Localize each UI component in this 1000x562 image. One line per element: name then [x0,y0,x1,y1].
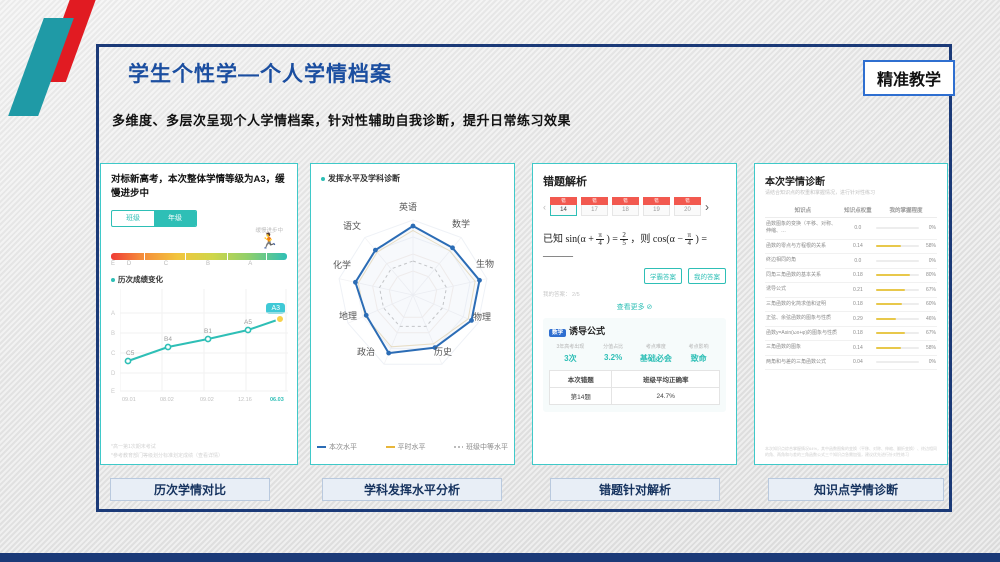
score-line-chart: A3 A B C D E [111,289,287,407]
grade-label-c: C [164,261,168,267]
question-chip-flag: 错 [674,197,701,205]
table-header-row: 知识点 知识点权重 我的掌握程度 [765,203,937,218]
table-row: 函数y=Asin(ωx+φ)的图象与性质0.1867% [765,326,937,341]
cell-mastery: 46% [875,312,937,327]
knowledge-summary-table: 本次错题 班级平均正确率 第14题 24.7% [549,370,720,405]
cell-wrong-question: 第14题 [550,388,612,405]
question-chip-19[interactable]: 错19 [643,197,670,216]
formula-fraction-1: π4 [596,232,604,247]
progress-runner: 缓慢进步中 🏃 [255,226,283,249]
page-title: 学生个性学—个人学情档案 [128,58,392,88]
question-chip-flag: 错 [550,197,577,205]
radar-label-geography: 地理 [339,309,357,322]
my-answer-row: 我的答案： 2/5 [543,290,726,298]
card1-heading: 对标新高考，本次整体学情等级为A3，缓慢进步中 [111,173,287,201]
y-label-d: D [111,371,115,377]
cell-weight: 0.18 [841,297,875,312]
x-label-4: 12.16 [238,397,252,403]
question-chip-number: 18 [612,205,639,216]
svg-text:A5: A5 [244,319,252,326]
card3-title: 错题解析 [543,173,726,189]
answer-buttons: 学霸答案 我的答案 [543,268,726,284]
radar-label-physics: 物理 [473,310,491,323]
cards-container: 对标新高考，本次整体学情等级为A3，缓慢进步中 班级 年级 缓慢进步中 🏃 E … [100,163,948,468]
card1-footnote-2: *参考教育部门等级划分标准划定成绩（查看详情） [111,452,223,459]
card1-legend: 历次成绩变化 [111,274,287,285]
question-chip-number: 20 [674,205,701,216]
cell-name: 函数y=Asin(ωx+φ)的图象与性质 [765,326,841,341]
x-label-2: 08.02 [160,397,174,403]
radar-label-biology: 生物 [476,257,494,270]
my-answer-label: 我的答案： [543,292,571,298]
stat-impact: 考点影响 致命 [677,343,720,364]
x-label-1: 09.01 [122,397,136,403]
view-more-label: 查看更多 [617,304,645,311]
stat-score-share: 分值占比 3.2% [592,343,635,364]
radar-label-history: 历史 [434,345,452,358]
formula-eq1: ) = [606,234,617,245]
cell-weight: 0.18 [841,326,875,341]
knowledge-point-panel: 数学诱导公式 3年高考出现 3次 分值占比 3.2% 考点难度 基础必会 [543,318,726,412]
legend-class-average: 班级中等水平 [454,442,508,452]
view-more-link[interactable]: 查看更多 ⊘ [543,302,726,312]
card2-heading-row: 发挥水平及学科诊断 [321,173,504,184]
card4-subtitle: 请结合知识点的权重和掌握情况，进行针对性练习 [765,190,937,198]
cell-mastery: 0% [875,355,937,370]
svg-text:B1: B1 [204,328,212,335]
runner-icon: 🏃 [255,234,283,249]
line-chart-y-axis: A B C D E [111,289,120,393]
knowledge-stats: 3年高考出现 3次 分值占比 3.2% 考点难度 基础必会 考点影响 致命 [549,343,720,364]
cell-weight: 0.0 [841,217,875,239]
question-chip-17[interactable]: 错17 [581,197,608,216]
footer-bar [0,553,1000,562]
bottom-label-wrong-analysis: 错题针对解析 [550,478,720,501]
cell-name: 三角函数的图象 [765,341,841,356]
question-formula: 已知 sin(α + π4 ) = 25 ，则 cos(α − π4 ) = _… [543,230,726,258]
y-label-c: C [111,351,115,357]
radar-label-chinese: 语文 [343,219,361,232]
page-subtitle: 多维度、多层次呈现个人学情档案，针对性辅助自我诊断，提升日常练习效果 [112,110,571,129]
grade-gradient-bar [111,253,287,260]
table-row: 三角函数的化简求值和证明0.1860% [765,297,937,312]
table-row: 三角函数的图象0.1458% [765,341,937,356]
question-selector[interactable]: ‹ 错14 错17 错18 错19 错20 › [543,197,726,216]
x-label-3: 09.02 [200,397,214,403]
card-knowledge-diagnosis: 本次学情诊断 请结合知识点的权重和掌握情况，进行针对性练习 知识点 知识点权重 … [754,163,948,465]
x-label-5: 06.03 [270,397,284,403]
knowledge-title-row: 数学诱导公式 [549,324,720,337]
scope-toggle[interactable]: 班级 年级 [111,210,197,227]
stat-difficulty: 考点难度 基础必会 [635,343,678,364]
cell-name: 两角和与差的三角函数公式 [765,355,841,370]
cell-weight: 0.14 [841,341,875,356]
question-chip-number: 17 [581,205,608,216]
radar-label-english: 英语 [399,200,417,213]
my-answer-button[interactable]: 我的答案 [688,268,726,284]
formula-mid: ，则 [630,234,650,245]
knowledge-title: 诱导公式 [569,326,605,336]
svg-text:B4: B4 [164,336,172,343]
question-chip-20[interactable]: 错20 [674,197,701,216]
subject-tag: 数学 [549,329,566,337]
cell-mastery: 67% [875,283,937,298]
col-wrong-question: 本次错题 [550,371,612,388]
knowledge-diagnosis-table: 知识点 知识点权重 我的掌握程度 函数图象的变换（平移、对称、伸缩、…0.00%… [765,203,937,371]
grade-scale-labels: E D C B A [111,260,287,271]
cell-weight: 0.18 [841,268,875,283]
cell-name: 函数的零点与方程根的关系 [765,239,841,254]
col-class-accuracy: 班级平均正确率 [612,371,720,388]
cell-mastery: 60% [875,297,937,312]
toggle-option-grade[interactable]: 年级 [154,211,196,226]
cell-mastery: 80% [875,268,937,283]
radar-label-chemistry: 化学 [333,258,351,271]
chevron-down-icon: ⊘ [647,304,653,311]
cell-weight: 0.14 [841,239,875,254]
cell-name: 三角函数的化简求值和证明 [765,297,841,312]
formula-expr2: cos(α − [653,234,683,245]
question-chip-number: 14 [550,205,577,216]
radar-legend: 本次水平 平时水平 班级中等水平 [317,442,508,452]
toggle-option-class[interactable]: 班级 [112,211,154,226]
formula-expr1: sin(α + [566,234,594,245]
table-row: 两角和与差的三角函数公式0.040% [765,355,937,370]
cell-weight: 0.21 [841,283,875,298]
card4-footnote: 本次知识点综合掌握情况64%，其中函数图象的变换（平移、对称、伸缩、翻折变换）、… [765,446,937,458]
line-chart-svg: C5 B4 B1 A5 [120,289,288,397]
card4-title: 本次学情诊断 [765,173,937,188]
my-answer-value: 2/5 [572,292,580,298]
legend-usual-level: 平时水平 [386,442,426,452]
card-subject-radar: 发挥水平及学科诊断 [310,163,515,465]
standard-answer-button[interactable]: 学霸答案 [644,268,682,284]
table-row: 第14题 24.7% [550,388,720,405]
question-chip-14[interactable]: 错14 [550,197,577,216]
cell-mastery: 0% [875,254,937,269]
card1-footnote-1: *高一第1次期末考试 [111,443,156,450]
bottom-label-subject-analysis: 学科发挥水平分析 [322,478,502,501]
bottom-labels: 历次学情对比 学科发挥水平分析 错题针对解析 知识点学情诊断 [100,478,948,502]
formula-prefix: 已知 [543,234,563,245]
grade-label-d: D [127,261,131,267]
question-chip-18[interactable]: 错18 [612,197,639,216]
col-weight: 知识点权重 [841,203,875,218]
radar-label-politics: 政治 [357,345,375,358]
y-label-e: E [111,389,115,395]
cell-name: 同角三角函数的基本关系 [765,268,841,283]
formula-fraction-3: π4 [685,232,693,247]
table-header-row: 本次错题 班级平均正确率 [550,371,720,388]
y-label-a: A [111,311,115,317]
table-row: 函数的零点与方程根的关系0.1458% [765,239,937,254]
header-badge: 精准教学 [863,60,955,96]
grade-label-e: E [111,261,115,267]
prev-question-icon[interactable]: ‹ [543,202,546,212]
grade-label-a: A [248,261,252,267]
stat-exam-frequency: 3年高考出现 3次 [549,343,592,364]
formula-fraction-2: 25 [620,232,628,247]
table-row: 正弦、余弦函数的图象与性质0.2946% [765,312,937,327]
question-chip-flag: 错 [643,197,670,205]
y-label-b: B [111,331,115,337]
cell-name: 正弦、余弦函数的图象与性质 [765,312,841,327]
question-chip-number: 19 [643,205,670,216]
cell-name: 终边相同的角 [765,254,841,269]
cell-name: 函数图象的变换（平移、对称、伸缩、… [765,217,841,239]
bottom-label-knowledge-diagnosis: 知识点学情诊断 [768,478,944,501]
radar-chart: 英语 数学 生物 物理 历史 政治 地理 化学 语文 [321,190,504,415]
cell-weight: 0.0 [841,254,875,269]
bottom-label-history-comparison: 历次学情对比 [110,478,270,501]
cell-weight: 0.04 [841,355,875,370]
legend-current-level: 本次水平 [317,442,357,452]
grade-label-b: B [206,261,210,267]
cell-mastery: 67% [875,326,937,341]
table-row: 同角三角函数的基本关系0.1880% [765,268,937,283]
card-history-comparison: 对标新高考，本次整体学情等级为A3，缓慢进步中 班级 年级 缓慢进步中 🏃 E … [100,163,298,465]
next-question-icon[interactable]: › [705,200,709,214]
card1-legend-label: 历次成绩变化 [118,275,163,284]
cell-class-accuracy: 24.7% [612,388,720,405]
card-wrong-question-analysis: 错题解析 ‹ 错14 错17 错18 错19 错20 › 已知 sin(α + … [532,163,737,465]
cell-mastery: 58% [875,341,937,356]
cell-mastery: 58% [875,239,937,254]
col-mastery: 我的掌握程度 [875,203,937,218]
question-chip-flag: 错 [581,197,608,205]
question-chip-flag: 错 [612,197,639,205]
radar-label-math: 数学 [452,217,470,230]
card2-heading: 发挥水平及学科诊断 [328,174,400,183]
table-row: 终边相同的角0.00% [765,254,937,269]
svg-text:C5: C5 [126,350,135,357]
col-knowledge-point: 知识点 [765,203,841,218]
cell-mastery: 0% [875,217,937,239]
table-row: 诱导公式0.2167% [765,283,937,298]
table-row: 函数图象的变换（平移、对称、伸缩、…0.00% [765,217,937,239]
cell-name: 诱导公式 [765,283,841,298]
cell-weight: 0.29 [841,312,875,327]
